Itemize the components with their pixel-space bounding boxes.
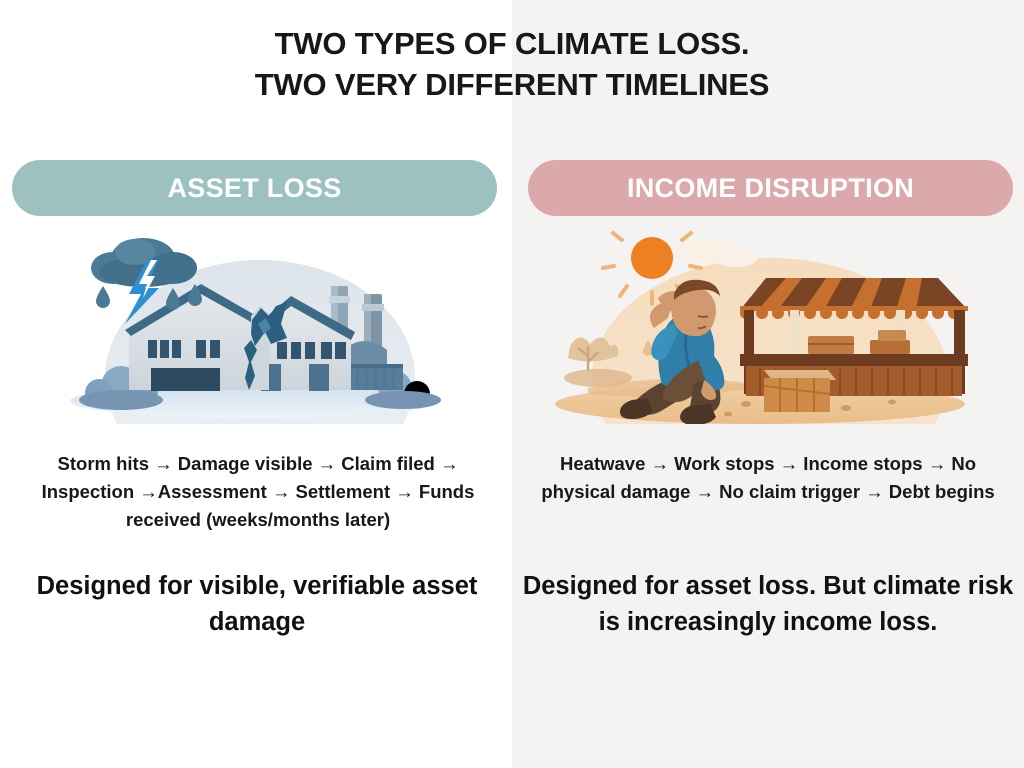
conclusion-asset-loss: Designed for visible, verifiable asset d…: [22, 568, 492, 640]
awning-valance: [740, 306, 968, 319]
header-pill-asset-loss-label: ASSET LOSS: [167, 173, 341, 204]
garage-door: [151, 368, 220, 391]
column-asset-loss: ASSET LOSS: [0, 0, 512, 768]
cloud-wisps: [674, 240, 758, 267]
page-title: TWO TYPES OF CLIMATE LOSS. TWO VERY DIFF…: [0, 24, 1024, 106]
storm-damaged-factory-illustration: [55, 228, 455, 424]
stall-post-inner-left: [790, 310, 799, 358]
stall-counter-top: [740, 354, 968, 366]
flow-text-income-disruption: Heatwave → Work stops → Income stops → N…: [532, 450, 1004, 506]
heatwave-worker-market-stall-illustration: [540, 228, 980, 424]
door-b: [309, 364, 329, 391]
conclusion-income-disruption: Designed for asset loss. But climate ris…: [520, 568, 1016, 640]
header-pill-asset-loss: ASSET LOSS: [12, 160, 497, 216]
column-income-disruption: INCOME DISRUPTION: [512, 0, 1024, 768]
infographic-canvas: TWO TYPES OF CLIMATE LOSS. TWO VERY DIFF…: [0, 0, 1024, 768]
worker-eye: [698, 316, 708, 317]
header-pill-income-disruption: INCOME DISRUPTION: [528, 160, 1013, 216]
header-pill-income-disruption-label: INCOME DISRUPTION: [627, 173, 914, 204]
flow-text-asset-loss: Storm hits → Damage visible → Claim file…: [28, 450, 488, 534]
ground-crate: [764, 370, 836, 412]
